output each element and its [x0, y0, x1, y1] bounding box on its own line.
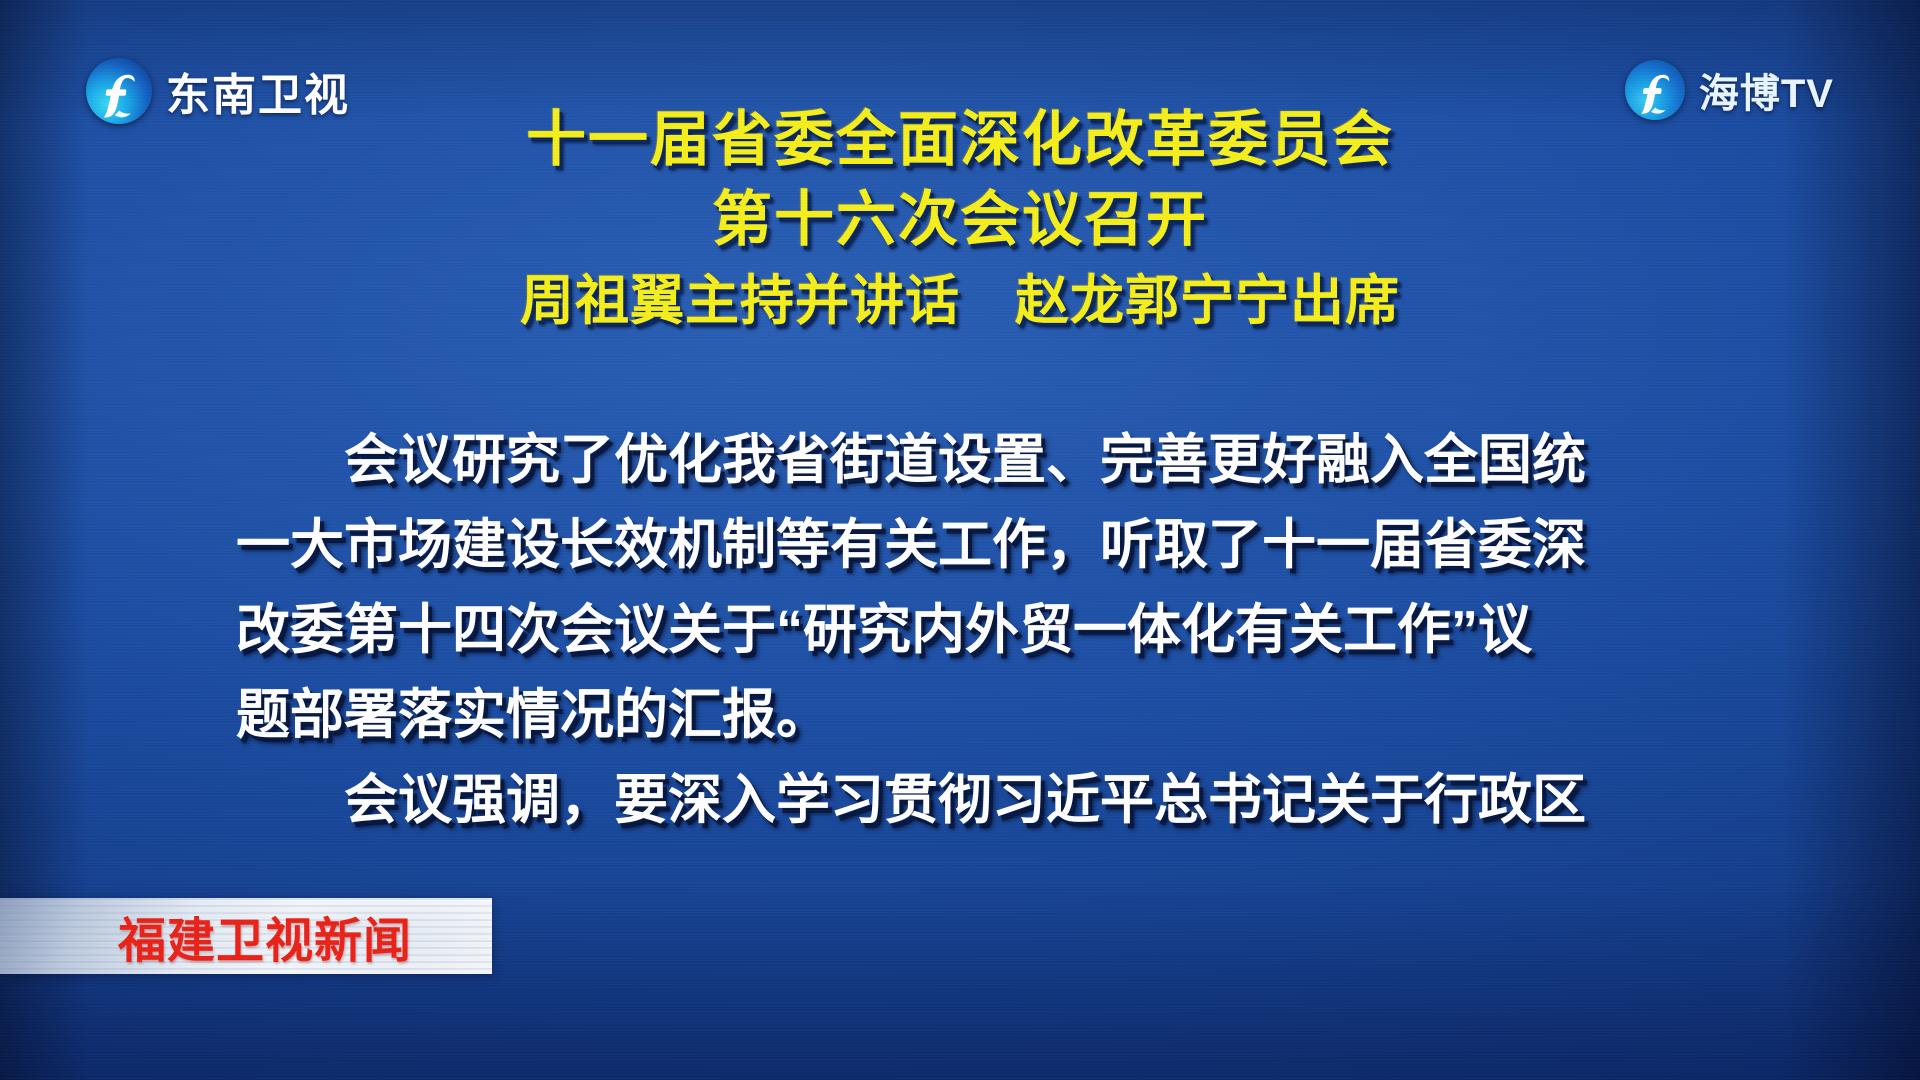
body-line: 一大市场建设长效机制等有关工作，听取了十一届省委深	[236, 503, 1720, 588]
body-line: 会议研究了优化我省街道设置、完善更好融入全国统	[236, 418, 1720, 503]
body-line: 题部署落实情况的汇报。	[236, 673, 1720, 758]
headline-block: 十一届省委全面深化改革委员会 第十六次会议召开 周祖翼主持并讲话 赵龙郭宁宁出席	[0, 110, 1920, 328]
headline-line-2: 第十六次会议召开	[0, 190, 1920, 250]
body-line: 改委第十四次会议关于“研究内外贸一体化有关工作”议	[236, 588, 1720, 673]
program-banner: 福建卫视新闻	[0, 898, 492, 974]
program-banner-title: 福建卫视新闻	[118, 901, 412, 971]
broadcast-screen: 东南卫视 海博TV 十一届省委全面深化改革委员会 第十六次会议召开 周祖翼主持并…	[0, 0, 1920, 1080]
headline-line-1: 十一届省委全面深化改革委员会	[0, 110, 1920, 170]
body-copy-block: 会议研究了优化我省街道设置、完善更好融入全国统 一大市场建设长效机制等有关工作，…	[236, 418, 1720, 843]
body-line: 会议强调，要深入学习贯彻习近平总书记关于行政区	[236, 758, 1720, 843]
headline-line-3: 周祖翼主持并讲话 赵龙郭宁宁出席	[0, 274, 1920, 328]
